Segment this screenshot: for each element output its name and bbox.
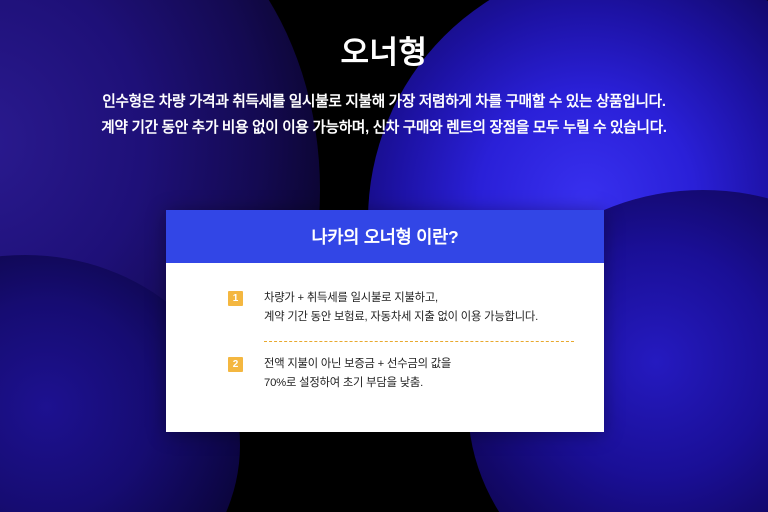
info-card-header: 나카의 오너형 이란? [166, 210, 604, 263]
list-item: 2 전액 지불이 아닌 보증금 + 선수금의 값을 70%로 설정하여 초기 부… [228, 355, 574, 393]
hero-section: 오너형 인수형은 차량 가격과 취득세를 일시불로 지불해 가장 저렴하게 차를… [0, 0, 768, 142]
list-item-badge-1: 1 [228, 291, 243, 306]
hero-subtitle-line-1: 인수형은 차량 가격과 취득세를 일시불로 지불해 가장 저렴하게 차를 구매할… [0, 90, 768, 116]
info-card-title: 나카의 오너형 이란? [311, 224, 458, 249]
page-title: 오너형 [0, 34, 768, 73]
page-root: 오너형 인수형은 차량 가격과 취득세를 일시불로 지불해 가장 저렴하게 차를… [0, 0, 768, 512]
list-item-text-1: 차량가 + 취득세를 일시불로 지불하고, 계약 기간 동안 보험료, 자동차세… [264, 289, 538, 327]
info-card-body: 1 차량가 + 취득세를 일시불로 지불하고, 계약 기간 동안 보험료, 자동… [166, 263, 604, 432]
info-card-wrapper: 나카의 오너형 이란? 1 차량가 + 취득세를 일시불로 지불하고, 계약 기… [166, 210, 604, 432]
list-item-2-line-2: 70%로 설정하여 초기 부담을 낮춤. [264, 374, 451, 393]
info-card: 나카의 오너형 이란? 1 차량가 + 취득세를 일시불로 지불하고, 계약 기… [166, 210, 604, 432]
hero-subtitle-line-2: 계약 기간 동안 추가 비용 없이 이용 가능하며, 신차 구매와 렌트의 장점… [0, 116, 768, 142]
list-item: 1 차량가 + 취득세를 일시불로 지불하고, 계약 기간 동안 보험료, 자동… [228, 289, 574, 327]
list-item-badge-2: 2 [228, 357, 243, 372]
hero-subtitle: 인수형은 차량 가격과 취득세를 일시불로 지불해 가장 저렴하게 차를 구매할… [0, 90, 768, 142]
list-item-1-line-1: 차량가 + 취득세를 일시불로 지불하고, [264, 289, 538, 308]
list-item-1-line-2: 계약 기간 동안 보험료, 자동차세 지출 없이 이용 가능합니다. [264, 308, 538, 327]
list-item-text-2: 전액 지불이 아닌 보증금 + 선수금의 값을 70%로 설정하여 초기 부담을… [264, 355, 451, 393]
list-item-2-line-1: 전액 지불이 아닌 보증금 + 선수금의 값을 [264, 355, 451, 374]
list-divider [264, 341, 574, 342]
